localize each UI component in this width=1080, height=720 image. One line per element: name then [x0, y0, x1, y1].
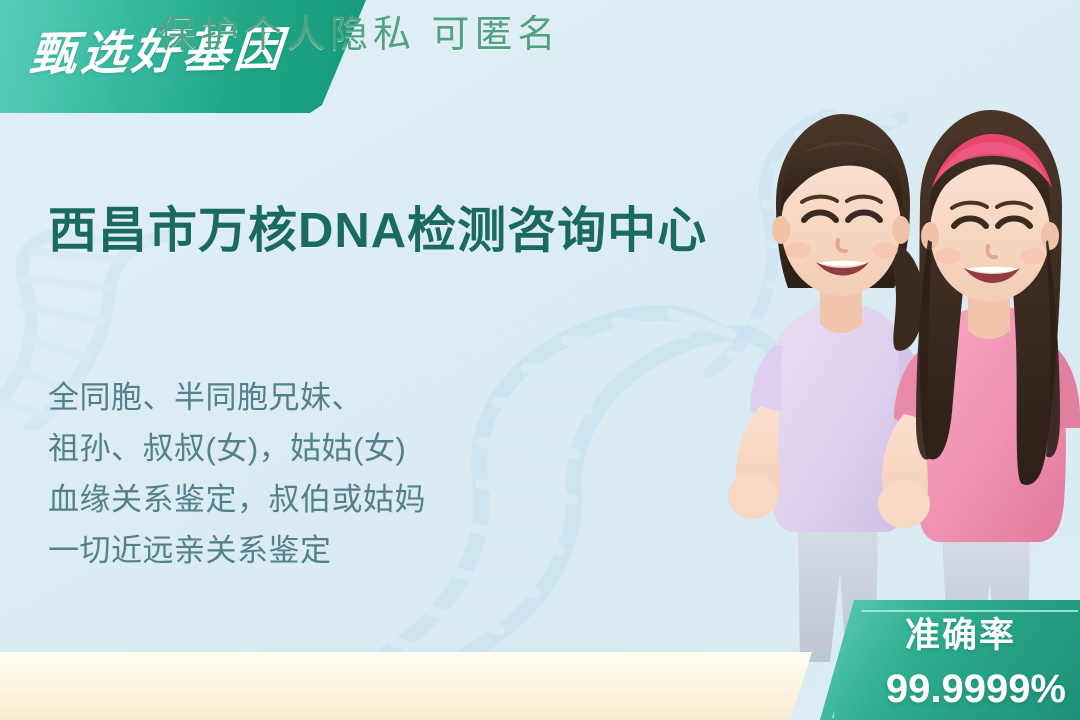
description-line-2: 祖孙、叔叔(女)，姑姑(女)	[48, 423, 426, 474]
poster-root: 甄选好基因 西昌市万核DNA检测咨询中心 全同胞、半同胞兄妹、 祖孙、叔叔(女)…	[0, 0, 1080, 720]
description-line-4: 一切近远亲关系鉴定	[48, 525, 426, 576]
accuracy-label: 准确率	[905, 607, 1016, 658]
girl-right	[878, 110, 1080, 662]
accuracy-value: 99.9999%	[886, 667, 1066, 712]
girl-left	[728, 114, 949, 662]
description-line-1: 全同胞、半同胞兄妹、	[48, 372, 426, 423]
helix-right-icon	[690, 110, 920, 380]
avatar-photo-two-girls	[680, 92, 1080, 662]
description-line-3: 血缘关系鉴定，叔伯或姑妈	[48, 474, 426, 525]
bottom-bar	[0, 652, 812, 720]
privacy-slogan: 保护个人隐私 可匿名	[158, 12, 561, 58]
page-title: 西昌市万核DNA检测咨询中心	[48, 191, 707, 262]
description-block: 全同胞、半同胞兄妹、 祖孙、叔叔(女)，姑姑(女) 血缘关系鉴定，叔伯或姑妈 一…	[48, 372, 426, 576]
